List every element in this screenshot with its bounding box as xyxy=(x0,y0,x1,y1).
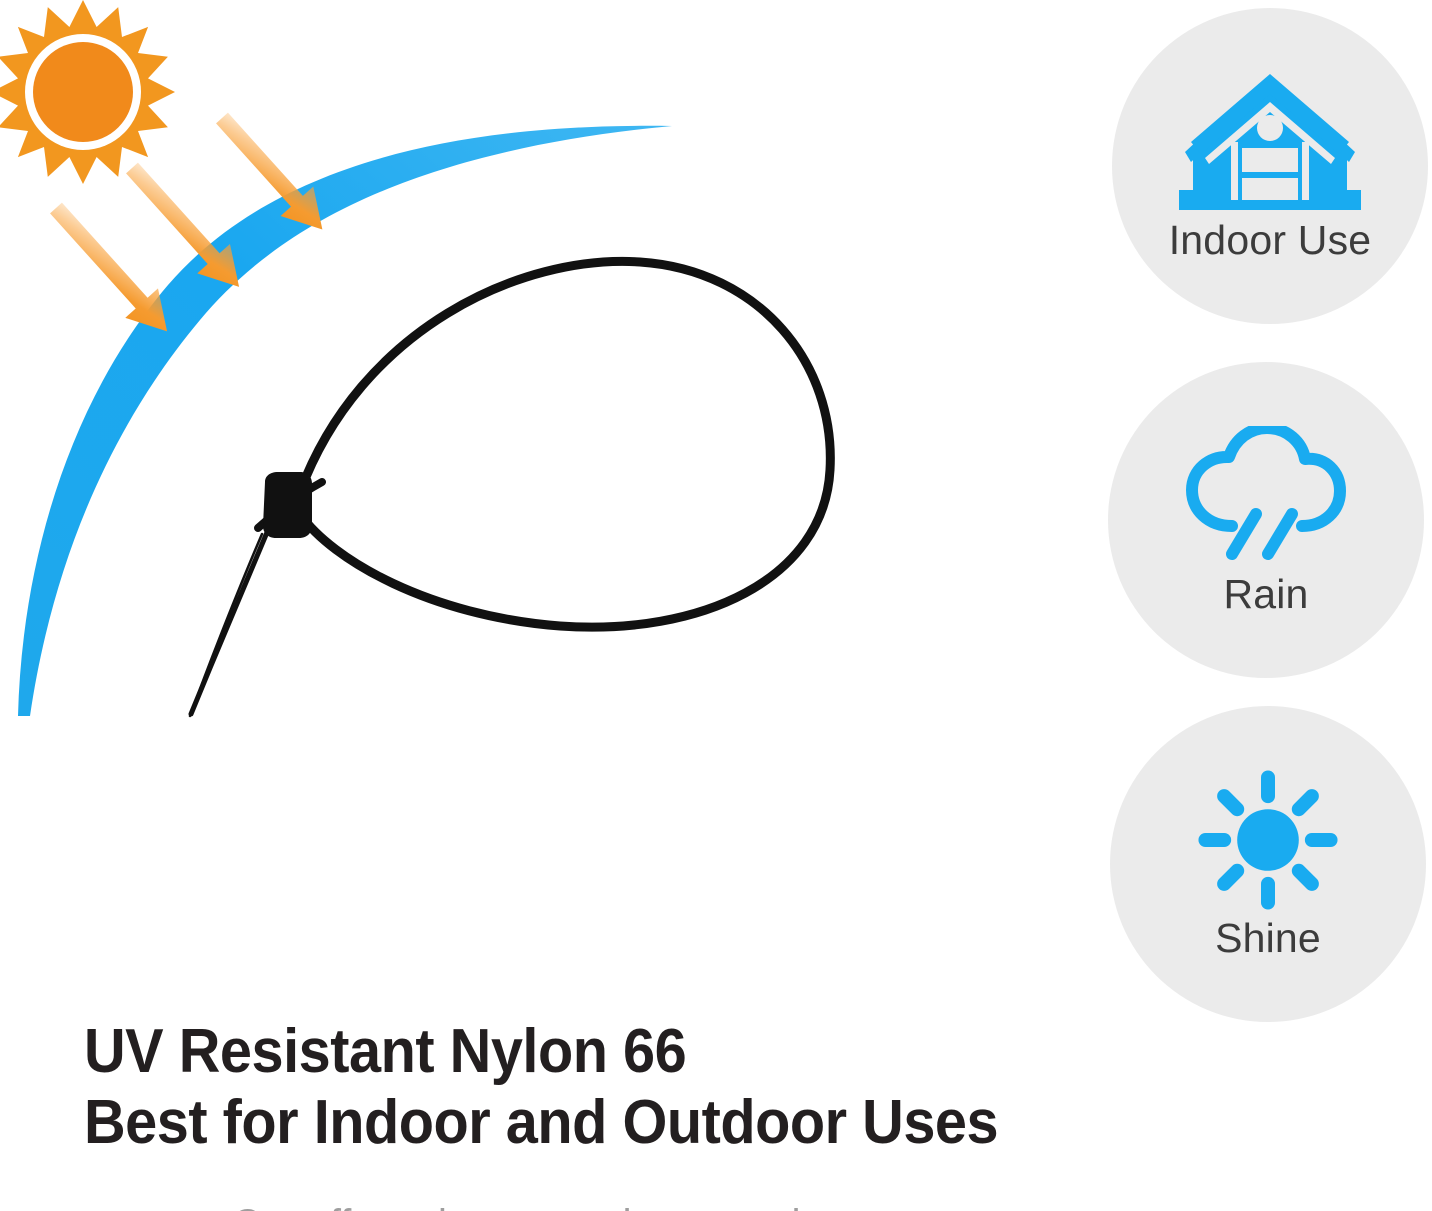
cut-off-caption: Cut-off caption text at bottom edge xyxy=(232,1204,952,1211)
feature-badge-indoor-use[interactable]: Indoor Use xyxy=(1112,8,1428,324)
cable-tie-loop xyxy=(190,261,830,716)
feature-label: Shine xyxy=(1215,918,1321,959)
headline-line-1: UV Resistant Nylon 66 xyxy=(84,1016,1014,1087)
feature-label: Indoor Use xyxy=(1169,220,1372,261)
cut-off-caption-text: Cut-off caption text at bottom edge xyxy=(232,1204,952,1211)
rain-cloud-icon xyxy=(1180,426,1352,566)
headline-line-2: Best for Indoor and Outdoor Uses xyxy=(84,1087,1014,1158)
headline-block: UV Resistant Nylon 66 Best for Indoor an… xyxy=(84,1016,1084,1158)
infographic-canvas: Indoor Use Rain xyxy=(0,0,1432,1211)
sun-shine-icon xyxy=(1193,770,1343,910)
house-icon xyxy=(1177,72,1363,212)
sun-burst-icon xyxy=(0,0,175,184)
feature-label: Rain xyxy=(1223,574,1308,615)
feature-badge-rain[interactable]: Rain xyxy=(1108,362,1424,678)
feature-badge-shine[interactable]: Shine xyxy=(1110,706,1426,1022)
